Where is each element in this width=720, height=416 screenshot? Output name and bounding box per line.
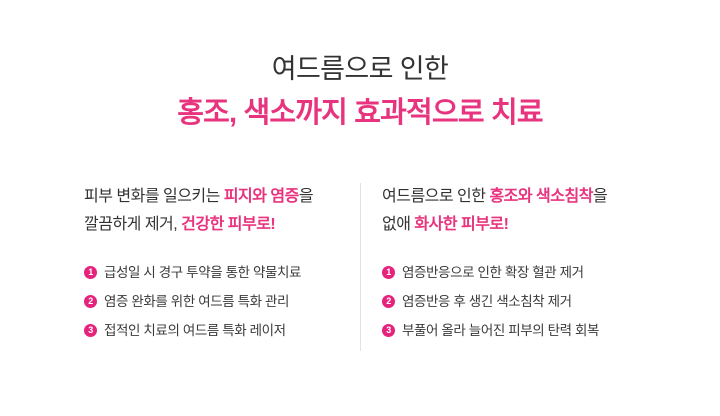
lead-highlight-1: 홍조와 색소침착: [489, 188, 593, 205]
headline-line-2: 홍조, 색소까지 효과적으로 치료: [0, 94, 720, 132]
headline-line-1: 여드름으로 인한: [0, 52, 720, 88]
list-item-label: 급성일 시 경구 투약을 통한 약물치료: [104, 264, 340, 282]
promo-panel: 여드름으로 인한 홍조, 색소까지 효과적으로 치료 피부 변화를 일으키는 피…: [0, 0, 720, 416]
content-columns: 피부 변화를 일으키는 피지와 염증을 깔끔하게 제거, 건강한 피부로! 1 …: [0, 183, 720, 341]
page-title: 여드름으로 인한 홍조, 색소까지 효과적으로 치료: [0, 0, 720, 132]
number-badge-icon: 3: [84, 324, 97, 337]
lead-text-part-1: 여드름으로 인한: [382, 188, 489, 205]
list-item-label: 부풀어 올라 늘어진 피부의 탄력 회복: [402, 322, 700, 340]
number-badge-icon: 2: [382, 295, 395, 308]
list-item: 1 급성일 시 경구 투약을 통한 약물치료: [84, 264, 340, 282]
lead-text-part-3: 없애: [382, 216, 414, 233]
list-item: 2 염증반응 후 생긴 색소침착 제거: [382, 293, 700, 311]
number-badge-icon: 1: [382, 266, 395, 279]
lead-highlight-2: 화사한 피부로!: [414, 216, 508, 233]
lead-text-part-2: 을: [593, 188, 607, 205]
list-item: 2 염증 완화를 위한 여드름 특화 관리: [84, 293, 340, 311]
list-item: 3 부풀어 올라 늘어진 피부의 탄력 회복: [382, 322, 700, 340]
content-column-right: 여드름으로 인한 홍조와 색소침착을 없애 화사한 피부로! 1 염증반응으로 …: [360, 183, 720, 341]
list-item-label: 염증 완화를 위한 여드름 특화 관리: [104, 293, 340, 311]
list-item: 1 염증반응으로 인한 확장 혈관 제거: [382, 264, 700, 282]
list-item-label: 염증반응으로 인한 확장 혈관 제거: [402, 264, 700, 282]
feature-list-right: 1 염증반응으로 인한 확장 혈관 제거 2 염증반응 후 생긴 색소침착 제거…: [382, 264, 700, 341]
lead-text-part-2: 을: [299, 188, 313, 205]
number-badge-icon: 3: [382, 324, 395, 337]
list-item-label: 접적인 치료의 여드름 특화 레이저: [104, 322, 340, 340]
column-left-lead: 피부 변화를 일으키는 피지와 염증을 깔끔하게 제거, 건강한 피부로!: [84, 183, 340, 238]
lead-text-part-3: 깔끔하게 제거,: [84, 216, 181, 233]
list-item-label: 염증반응 후 생긴 색소침착 제거: [402, 293, 700, 311]
column-right-lead: 여드름으로 인한 홍조와 색소침착을 없애 화사한 피부로!: [382, 183, 700, 238]
number-badge-icon: 2: [84, 295, 97, 308]
lead-highlight-2: 건강한 피부로!: [181, 216, 275, 233]
feature-list-left: 1 급성일 시 경구 투약을 통한 약물치료 2 염증 완화를 위한 여드름 특…: [84, 264, 340, 341]
list-item: 3 접적인 치료의 여드름 특화 레이저: [84, 322, 340, 340]
lead-highlight-1: 피지와 염증: [224, 188, 299, 205]
lead-text-part-1: 피부 변화를 일으키는: [84, 188, 224, 205]
number-badge-icon: 1: [84, 266, 97, 279]
content-column-left: 피부 변화를 일으키는 피지와 염증을 깔끔하게 제거, 건강한 피부로! 1 …: [0, 183, 360, 341]
